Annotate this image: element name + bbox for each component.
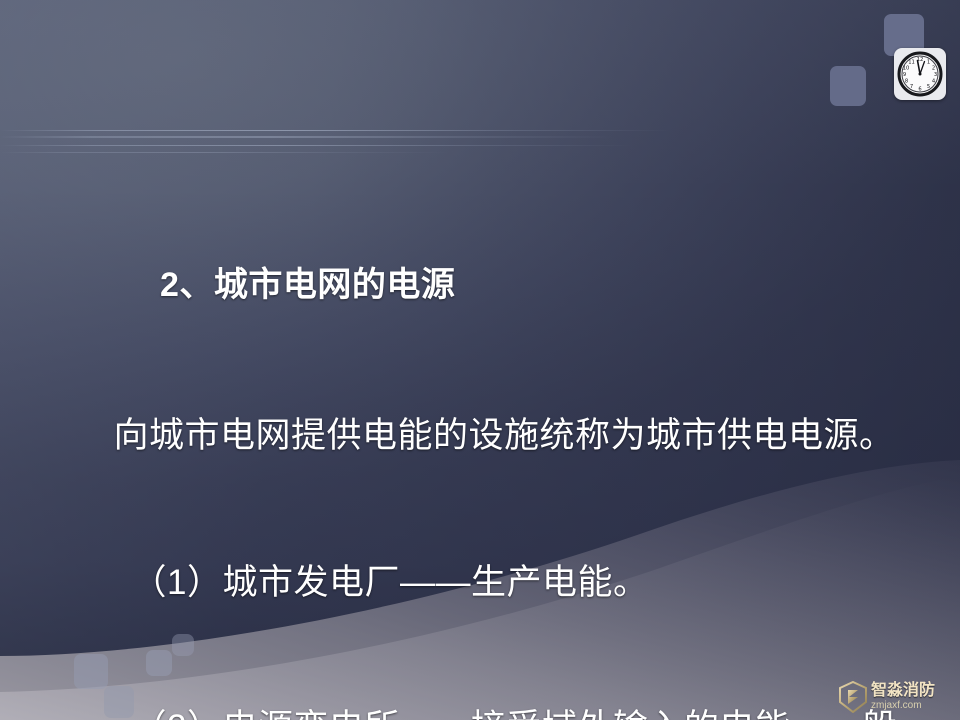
body-paragraph-3: （2）电源变电所——接受域外输入的电能，一般是输变电系统的输电线路从远方大型发电… <box>78 704 898 720</box>
svg-text:5: 5 <box>927 84 930 90</box>
body-paragraph-1: 向城市电网提供电能的设施统称为城市供电电源。 <box>78 412 898 459</box>
body-paragraph-2: （1）城市发电厂——生产电能。 <box>78 559 898 606</box>
watermark-url: zmjaxf.com <box>871 701 935 711</box>
svg-text:9: 9 <box>903 72 906 78</box>
page-title: 2、城市电网的电源 <box>78 262 898 309</box>
decorative-square-icon <box>830 66 866 106</box>
svg-text:11: 11 <box>908 60 915 66</box>
zhimiao-logo-icon <box>838 681 868 713</box>
slide-body-text: 2、城市电网的电源 向城市电网提供电能的设施统称为城市供电电源。 （1）城市发电… <box>78 168 898 720</box>
header-accent-line <box>0 145 660 146</box>
svg-text:6: 6 <box>918 87 921 93</box>
svg-text:10: 10 <box>903 66 910 72</box>
svg-text:1: 1 <box>927 60 930 66</box>
svg-text:8: 8 <box>905 79 908 85</box>
header-accent-line <box>0 130 700 131</box>
header-accent-line <box>0 136 640 138</box>
header-accent-line <box>0 152 470 153</box>
watermark: 智淼消防 zmjaxf.com <box>838 676 956 718</box>
clock-icon: 12 1 2 3 4 5 6 7 8 9 10 11 <box>894 48 946 100</box>
watermark-brand: 智淼消防 <box>871 683 935 699</box>
svg-text:7: 7 <box>910 84 913 90</box>
svg-text:3: 3 <box>934 72 937 78</box>
svg-text:2: 2 <box>932 66 935 72</box>
presentation-slide: 12 1 2 3 4 5 6 7 8 9 10 11 2、城市电网的电源 向城市… <box>0 0 960 720</box>
